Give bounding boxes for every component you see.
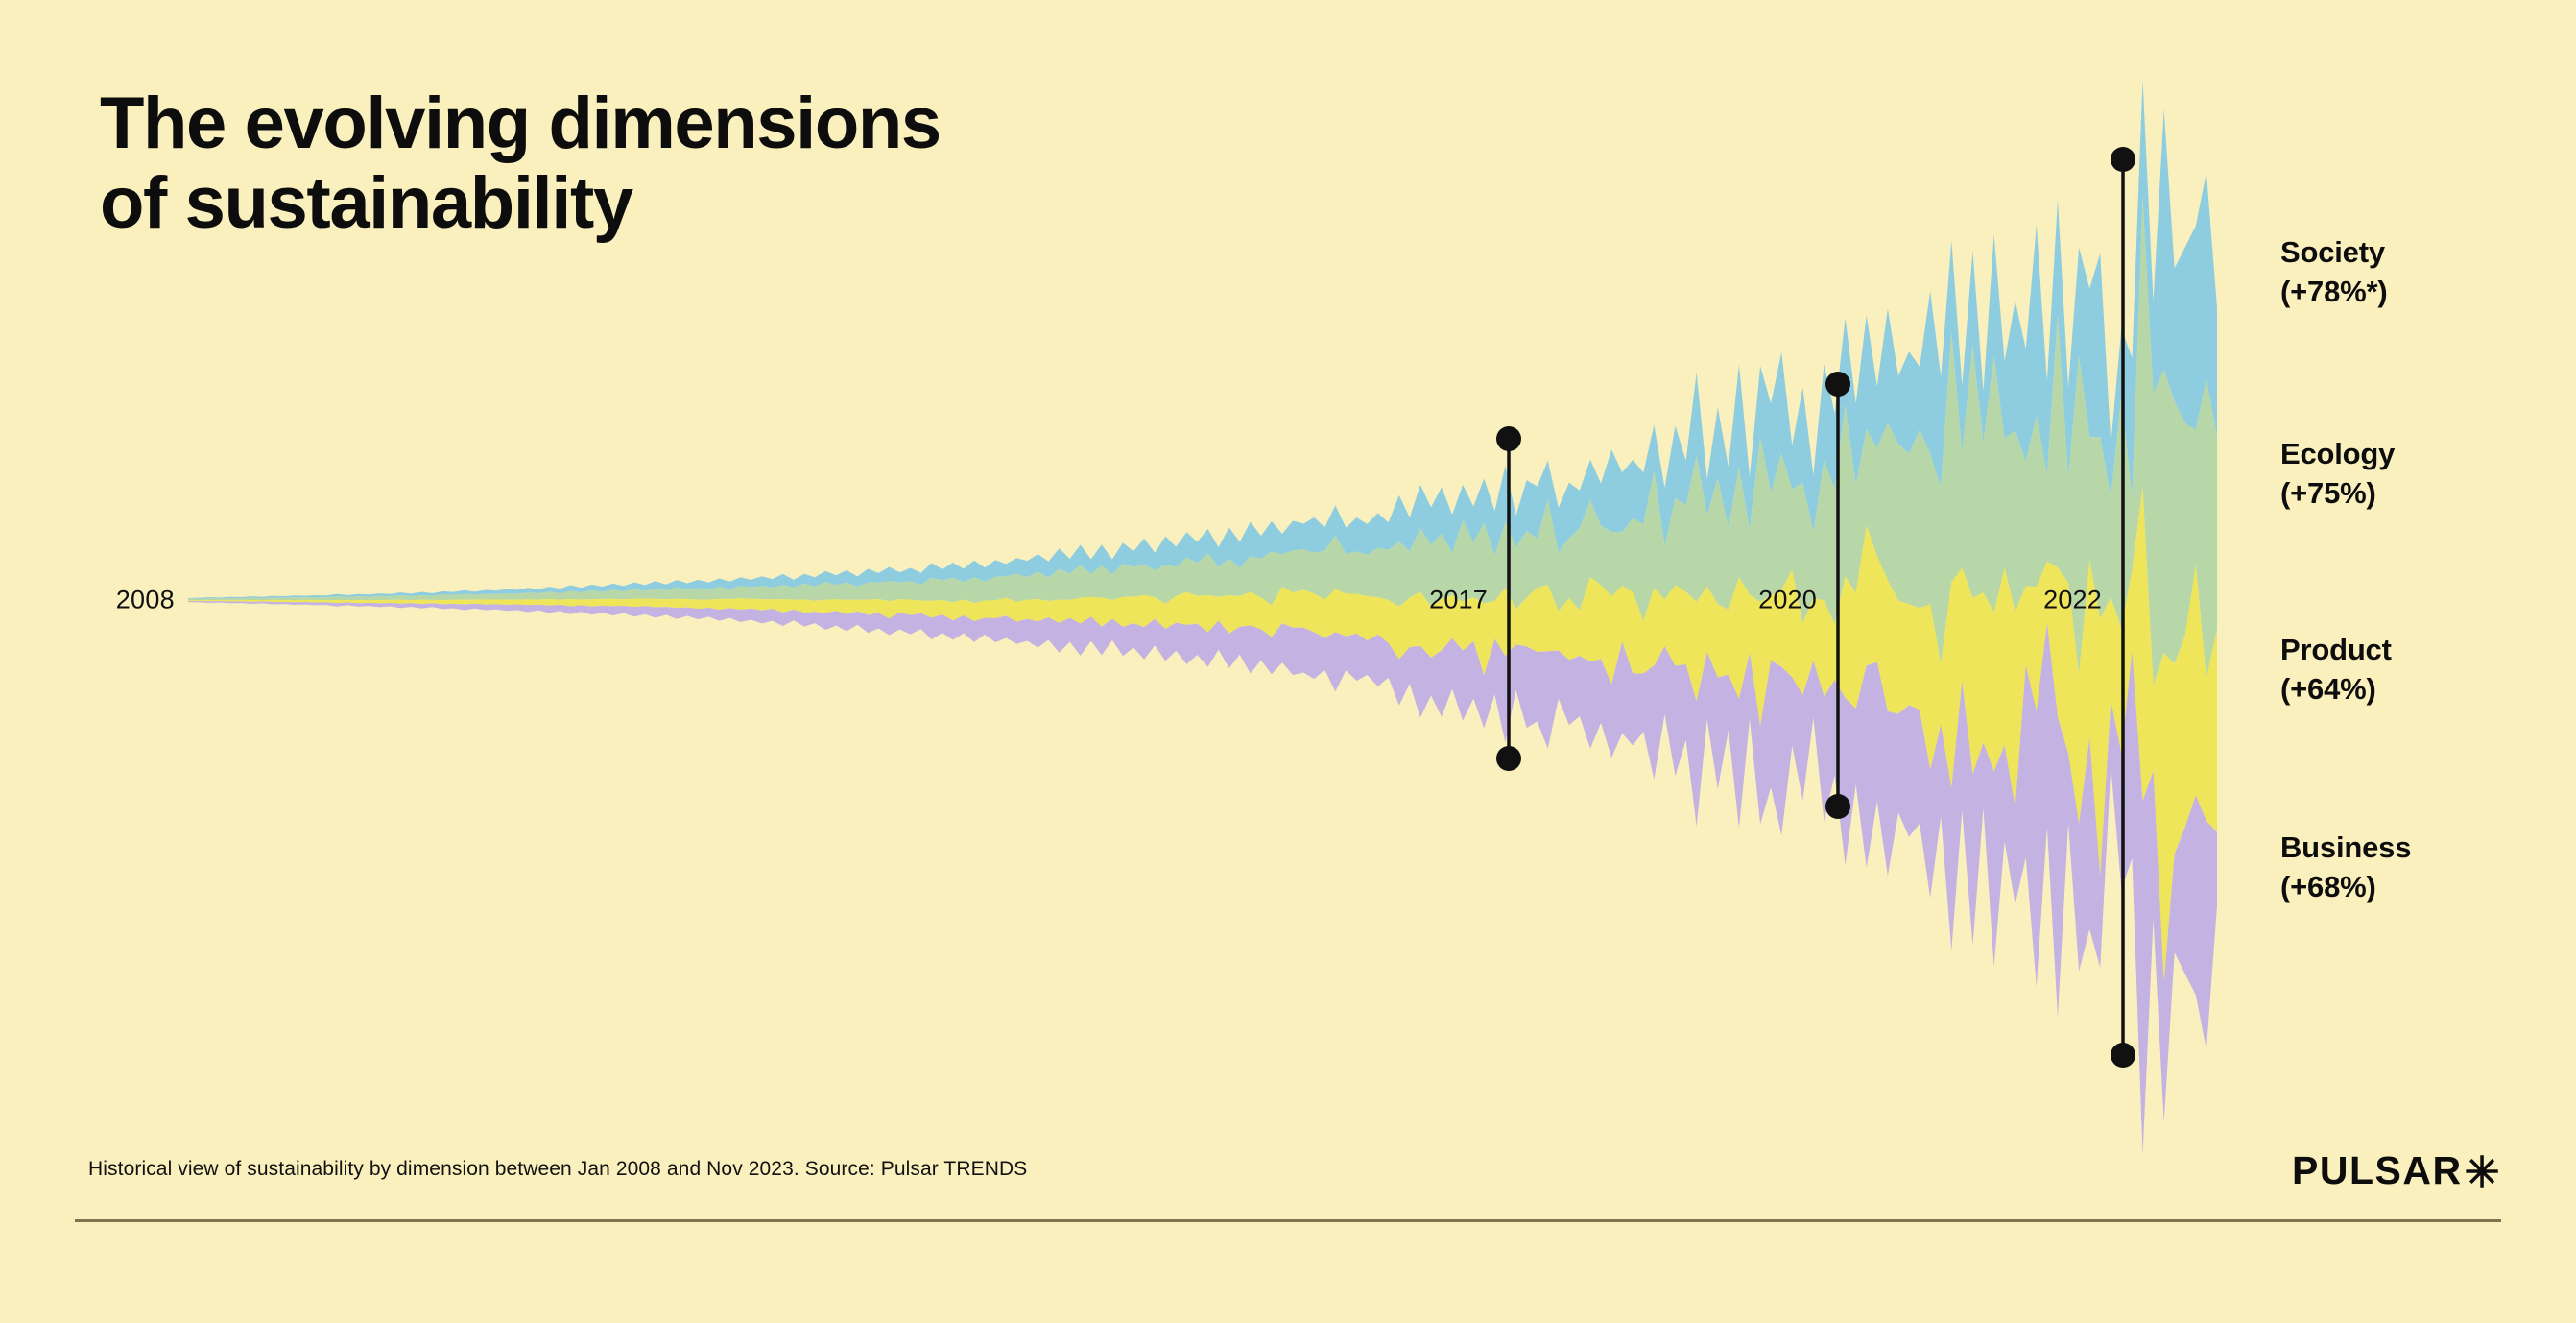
stream-band-product: [188, 488, 2217, 982]
year-label-2022: 2022: [2043, 586, 2102, 615]
legend-label-product: Product: [2280, 630, 2392, 669]
legend-delta-society: (+78%*): [2280, 272, 2387, 311]
stream-band-business: [188, 601, 2217, 1155]
brand-wordmark: PULSAR: [2292, 1148, 2463, 1193]
year-marker-2017: [1496, 426, 1521, 771]
year-marker-2020: [1825, 372, 1850, 819]
legend-delta-product: (+64%): [2280, 669, 2392, 709]
marker-dot-bottom: [1496, 746, 1521, 771]
marker-dot-top: [1825, 372, 1850, 397]
footer-source-note: Historical view of sustainability by dim…: [88, 1158, 1027, 1181]
footer-divider: [75, 1219, 2501, 1222]
year-label-2020: 2020: [1758, 586, 1817, 615]
marker-dot-bottom: [1825, 794, 1850, 819]
marker-dot-top: [2111, 147, 2135, 172]
legend-item-product: Product (+64%): [2280, 630, 2392, 709]
legend-label-ecology: Ecology: [2280, 434, 2395, 473]
pulsar-logo: PULSAR✳: [2292, 1148, 2501, 1193]
asterisk-icon: ✳: [2465, 1154, 2501, 1192]
year-label-2017: 2017: [1429, 586, 1488, 615]
legend-delta-ecology: (+75%): [2280, 473, 2395, 513]
year-marker-2022: [2111, 147, 2135, 1068]
legend-delta-business: (+68%): [2280, 867, 2411, 906]
stream-band-ecology: [188, 199, 2217, 686]
infographic-poster: The evolving dimensions of sustainabilit…: [0, 0, 2576, 1323]
page-title: The evolving dimensions of sustainabilit…: [100, 84, 941, 244]
year-label-2008: 2008: [116, 586, 175, 615]
marker-dot-bottom: [2111, 1043, 2135, 1068]
legend-item-society: Society (+78%*): [2280, 232, 2387, 311]
marker-dot-top: [1496, 426, 1521, 451]
legend-item-ecology: Ecology (+75%): [2280, 434, 2395, 513]
legend-label-society: Society: [2280, 232, 2387, 272]
legend-label-business: Business: [2280, 828, 2411, 867]
legend-item-business: Business (+68%): [2280, 828, 2411, 906]
